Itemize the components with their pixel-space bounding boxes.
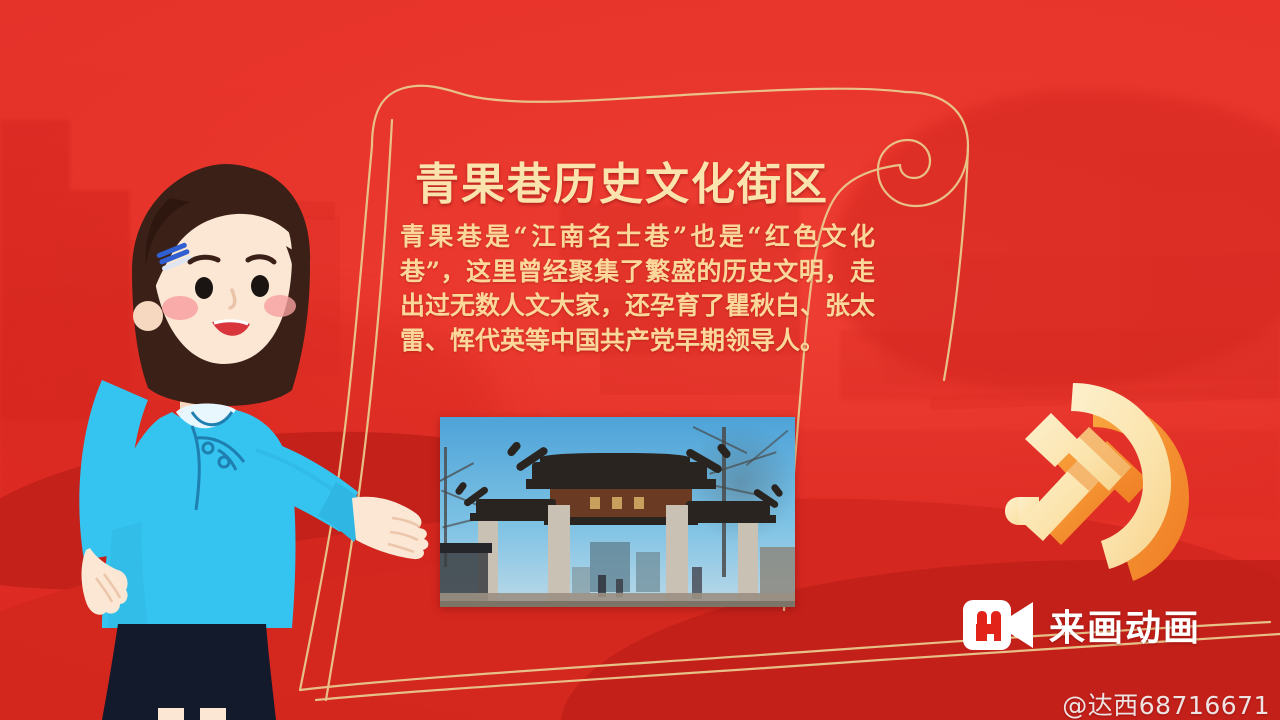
body-paragraph: 青果巷是“江南名士巷”也是“红色文化巷”，这里曾经聚集了繁盛的历史文明，走出过无… <box>400 220 875 358</box>
watermark-username: @达西68716671 <box>1062 686 1270 720</box>
inset-photo-paifang <box>440 417 795 607</box>
female-presenter-illustration <box>40 150 430 720</box>
brand-logo: 来画动画 <box>963 596 1201 654</box>
slide-canvas: 青果巷历史文化街区 青果巷是“江南名士巷”也是“红色文化巷”，这里曾经聚集了繁盛… <box>0 0 1280 720</box>
page-title: 青果巷历史文化街区 <box>415 148 829 212</box>
cpc-hammer-sickle-emblem <box>985 375 1225 590</box>
brand-logo-text: 来画动画 <box>1049 599 1201 651</box>
video-camera-icon <box>963 596 1035 654</box>
